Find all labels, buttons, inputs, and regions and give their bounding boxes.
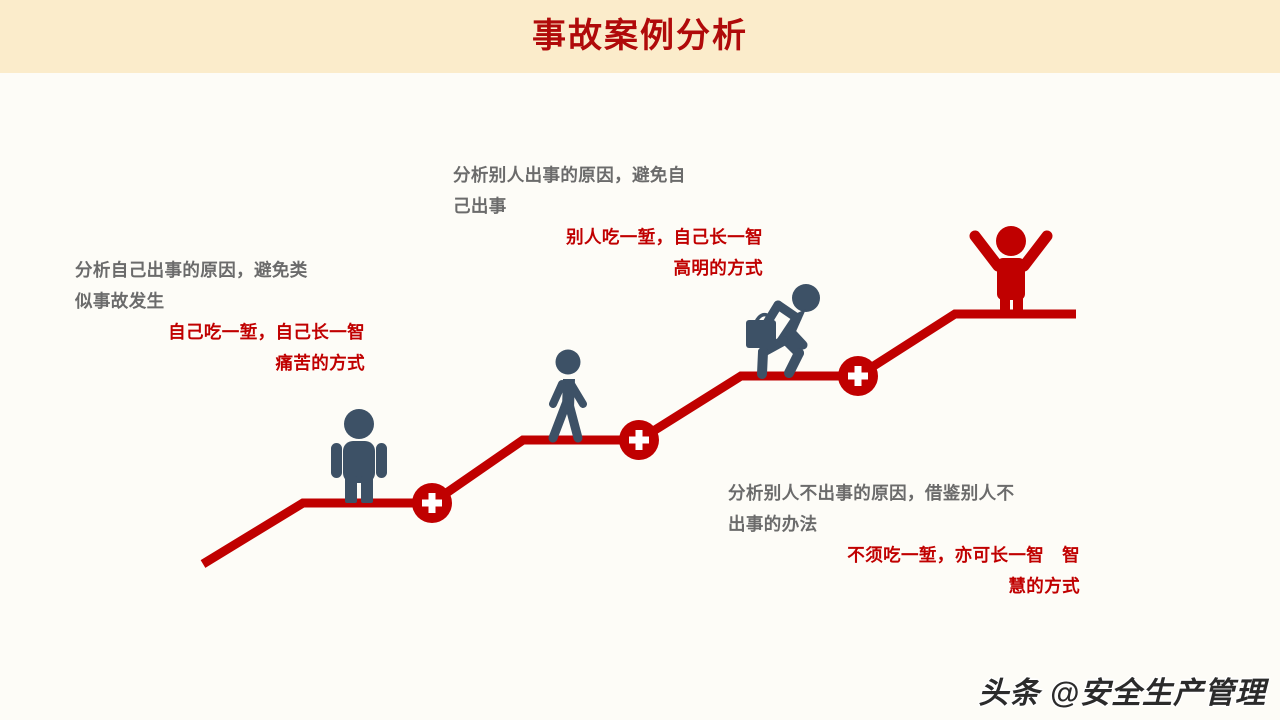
person-celebrating-leg-right bbox=[1013, 294, 1023, 315]
person-walking-head bbox=[556, 350, 581, 375]
callout-stage-3-red-line-1: 不须吃一堑，亦可长一智 智 bbox=[728, 540, 1080, 571]
callout-stage-3-gray-line-1: 分析别人不出事的原因，借鉴别人不 bbox=[728, 478, 1080, 509]
person-walking-leg-back bbox=[553, 404, 566, 438]
person-walking-arm-back bbox=[553, 384, 562, 404]
callout-stage-3-gray-line-2: 出事的办法 bbox=[728, 509, 1080, 540]
person-celebrating-arm-left bbox=[975, 236, 998, 266]
plus-circle-icon-bar bbox=[422, 500, 442, 507]
step-marker-1[interactable] bbox=[412, 483, 452, 523]
person-running-head bbox=[792, 284, 820, 312]
callout-stage-1-gray-line-1: 分析自己出事的原因，避免类 bbox=[75, 255, 365, 286]
person-walking-leg-front bbox=[569, 404, 578, 438]
person-celebrating-arm-right bbox=[1024, 236, 1047, 266]
callout-stage-1-gray-line-2: 似事故发生 bbox=[75, 286, 365, 317]
callout-stage-1-red-line-1: 自己吃一堑，自己长一智 bbox=[75, 317, 365, 348]
plus-circle-icon-bar bbox=[848, 373, 868, 380]
figure-celebrating-person bbox=[975, 226, 1047, 315]
figure-walking-person bbox=[553, 350, 583, 439]
watermark-text: 头条 @安全生产管理 bbox=[978, 668, 1266, 712]
step-marker-2[interactable] bbox=[619, 420, 659, 460]
figure-standing-person bbox=[331, 409, 387, 503]
callout-stage-1: 分析自己出事的原因，避免类 似事故发生 自己吃一堑，自己长一智 痛苦的方式 bbox=[75, 255, 365, 379]
person-standing-leg-right bbox=[361, 476, 373, 503]
person-celebrating-leg-left bbox=[1000, 294, 1010, 315]
figure-running-person-briefcase bbox=[746, 284, 820, 374]
callout-stage-3-red-line-2: 慧的方式 bbox=[728, 571, 1080, 602]
person-running-shin-front bbox=[789, 353, 799, 373]
callout-stage-2-gray-line-1: 分析别人出事的原因，避免自 bbox=[453, 160, 763, 191]
callout-stage-2: 分析别人出事的原因，避免自 己出事 别人吃一堑，自己长一智 高明的方式 bbox=[453, 160, 763, 284]
person-standing-head bbox=[344, 409, 374, 439]
callout-stage-3: 分析别人不出事的原因，借鉴别人不 出事的办法 不须吃一堑，亦可长一智 智 慧的方… bbox=[728, 478, 1080, 602]
person-standing-arm-right bbox=[376, 443, 387, 478]
step-marker-3[interactable] bbox=[838, 356, 878, 396]
slide-canvas: 事故案例分析 bbox=[0, 0, 1280, 720]
callout-stage-2-gray-line-2: 己出事 bbox=[453, 191, 763, 222]
person-running-shin-back bbox=[762, 352, 763, 374]
person-standing-leg-left bbox=[345, 476, 357, 503]
callout-stage-2-red-line-2: 高明的方式 bbox=[453, 253, 763, 284]
briefcase-icon bbox=[746, 320, 776, 348]
plus-circle-icon-bar bbox=[629, 437, 649, 444]
person-standing-arm-left bbox=[331, 443, 342, 478]
callout-stage-1-red-line-2: 痛苦的方式 bbox=[75, 348, 365, 379]
callout-stage-2-red-line-1: 别人吃一堑，自己长一智 bbox=[453, 222, 763, 253]
person-celebrating-head bbox=[996, 226, 1026, 256]
